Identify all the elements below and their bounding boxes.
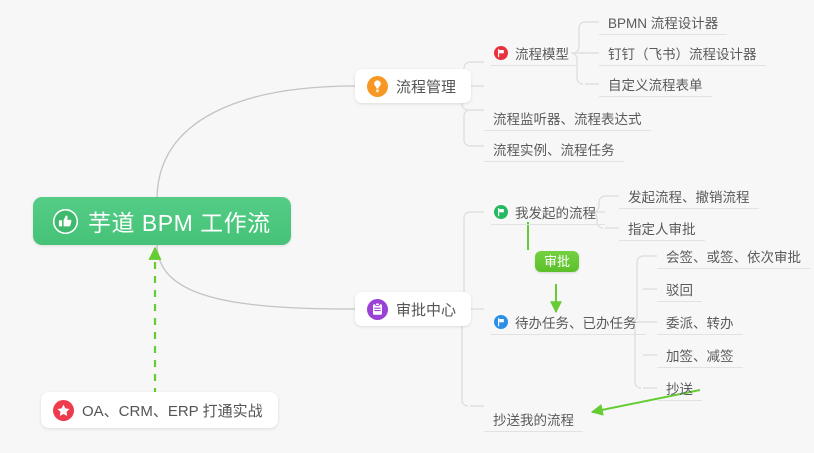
node-add-remove-sign[interactable]: 加签、减签 — [657, 342, 743, 368]
node-label: 钉钉（飞书）流程设计器 — [608, 43, 757, 63]
node-label: 流程实例、流程任务 — [493, 139, 615, 159]
flag-icon — [494, 46, 508, 60]
node-label: 自定义流程表单 — [608, 74, 703, 94]
node-bpmn-designer[interactable]: BPMN 流程设计器 — [599, 9, 727, 35]
integration-label: OA、CRM、ERP 打通实战 — [82, 400, 263, 421]
node-label: 委派、转办 — [666, 312, 734, 332]
node-start-cancel[interactable]: 发起流程、撤销流程 — [619, 183, 759, 209]
node-label: 驳回 — [666, 279, 693, 299]
node-cc-to-me[interactable]: 抄送我的流程 — [484, 406, 583, 432]
node-designated-approver[interactable]: 指定人审批 — [619, 215, 705, 241]
node-label: 我发起的流程 — [515, 202, 596, 222]
node-label: 加签、减签 — [666, 345, 734, 365]
root-label: 芋道 BPM 工作流 — [88, 204, 271, 238]
star-icon — [53, 400, 74, 421]
node-countersign[interactable]: 会签、或签、依次审批 — [657, 243, 810, 269]
node-cc[interactable]: 抄送 — [657, 375, 702, 401]
node-instance-task[interactable]: 流程实例、流程任务 — [484, 136, 624, 162]
node-label: 流程模型 — [515, 43, 569, 63]
branch-approval-center[interactable]: 审批中心 — [355, 292, 471, 326]
node-delegate-transfer[interactable]: 委派、转办 — [657, 309, 743, 335]
node-todo-done-tasks[interactable]: 待办任务、已办任务 — [491, 309, 646, 335]
branch-label: 审批中心 — [396, 299, 456, 320]
node-label: 待办任务、已办任务 — [515, 312, 637, 332]
mindmap-canvas: 芋道 BPM 工作流 流程管理 流程模型 BPMN 流程设计器 钉钉（飞书）流程 — [0, 0, 814, 453]
branch-label: 流程管理 — [396, 76, 456, 97]
node-listener-expression[interactable]: 流程监听器、流程表达式 — [484, 105, 651, 131]
root-node[interactable]: 芋道 BPM 工作流 — [33, 197, 291, 245]
node-label: BPMN 流程设计器 — [608, 12, 718, 32]
integration-node[interactable]: OA、CRM、ERP 打通实战 — [41, 392, 278, 428]
clipboard-icon — [367, 299, 388, 320]
node-label: 抄送 — [666, 378, 693, 398]
node-label: 会签、或签、依次审批 — [666, 246, 801, 266]
approve-badge-label: 审批 — [544, 254, 570, 269]
approve-badge: 审批 — [535, 251, 579, 272]
lightbulb-pin-icon — [367, 76, 388, 97]
node-reject[interactable]: 驳回 — [657, 276, 702, 302]
node-label: 抄送我的流程 — [493, 409, 574, 429]
node-label: 流程监听器、流程表达式 — [493, 108, 642, 128]
node-custom-form[interactable]: 自定义流程表单 — [599, 71, 712, 97]
node-label: 发起流程、撤销流程 — [628, 186, 750, 206]
flag-icon — [494, 205, 508, 219]
branch-process-management[interactable]: 流程管理 — [355, 69, 471, 103]
node-label: 指定人审批 — [628, 218, 696, 238]
thumbs-up-icon — [53, 209, 78, 234]
flag-icon — [494, 315, 508, 329]
node-my-initiated[interactable]: 我发起的流程 — [491, 199, 605, 225]
node-dingtalk-designer[interactable]: 钉钉（飞书）流程设计器 — [599, 40, 766, 66]
node-process-model[interactable]: 流程模型 — [491, 40, 578, 66]
